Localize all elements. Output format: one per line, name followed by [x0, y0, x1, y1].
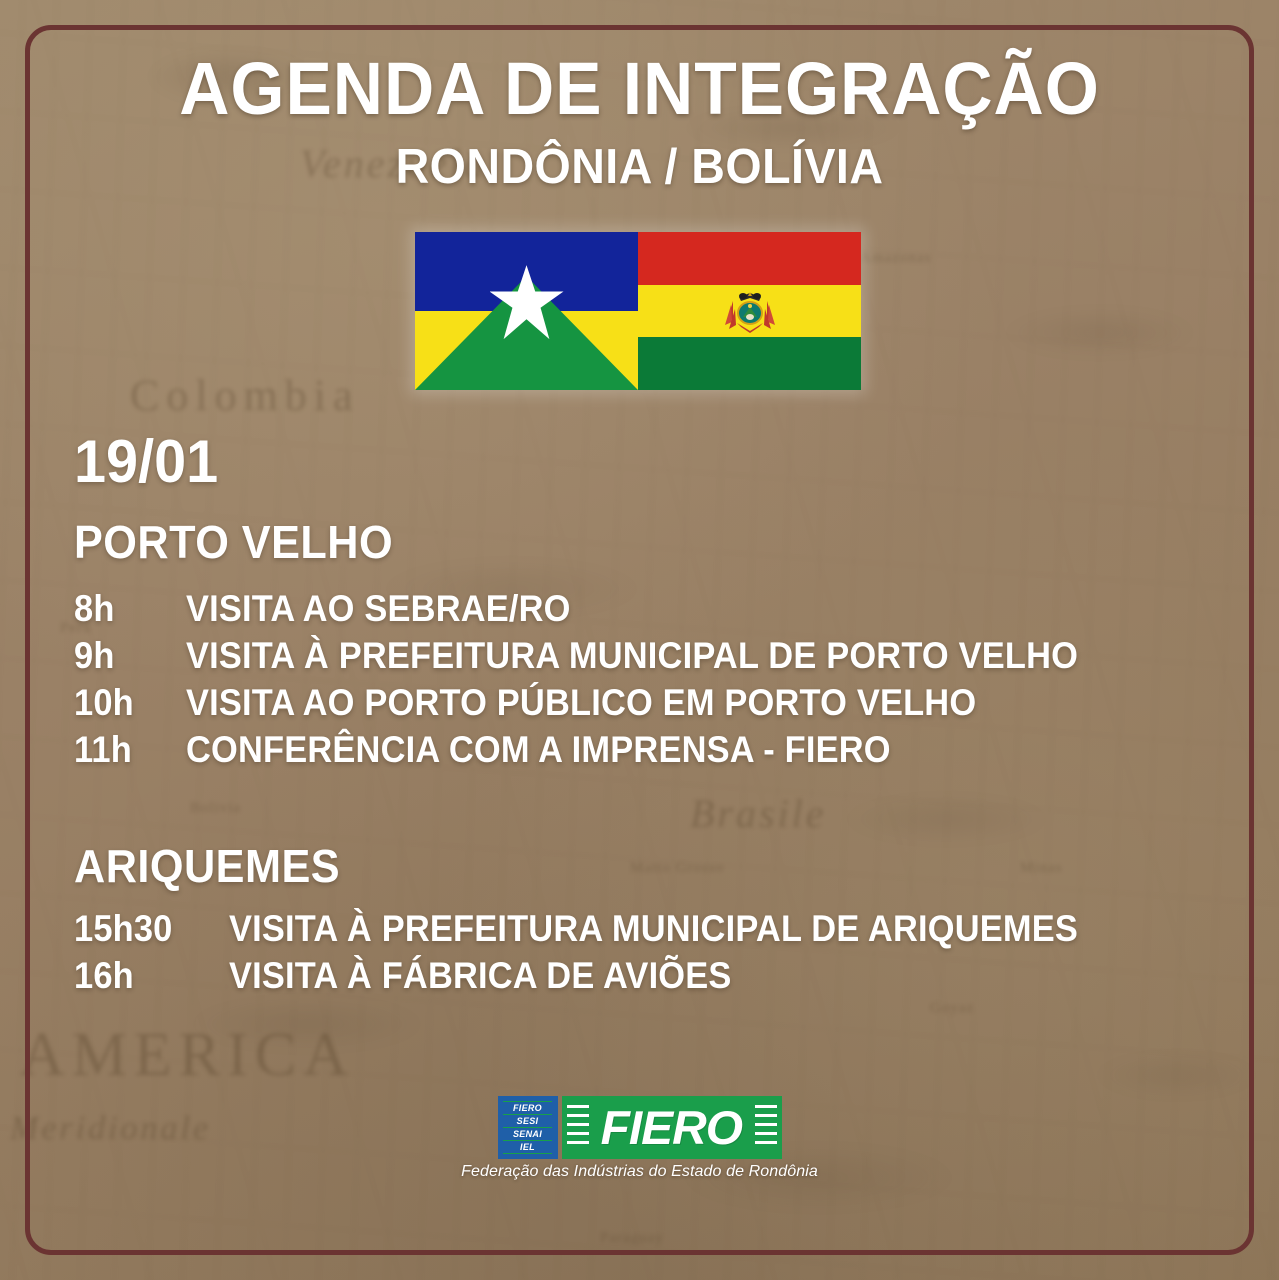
schedule-description: VISITA À FÁBRICA DE AVIÕES: [229, 957, 732, 994]
schedule-description: VISITA AO SEBRAE/RO: [186, 590, 571, 627]
rondonia-flag: [415, 232, 638, 390]
schedule-time: 10h: [74, 684, 178, 721]
fiero-logo-marks: FIERO SESI SENAI IEL FIERO: [498, 1096, 782, 1159]
schedule-row: 10h VISITA AO PORTO PÚBLICO EM PORTO VEL…: [74, 684, 1145, 731]
section-city-ariquemes: ARIQUEMES: [74, 843, 340, 889]
bolivia-flag-green-band: [638, 337, 861, 390]
schedule-description: VISITA AO PORTO PÚBLICO EM PORTO VELHO: [186, 684, 976, 721]
schedule-time: 16h: [74, 957, 218, 994]
schedule-time: 8h: [74, 590, 178, 627]
fiero-block-line: FIERO: [503, 1101, 552, 1115]
fiero-block-line: SESI: [503, 1115, 552, 1128]
schedule-row: 15h30 VISITA À PREFEITURA MUNICIPAL DE A…: [74, 910, 1142, 957]
schedule-time: 11h: [74, 731, 178, 768]
schedule-list-porto-velho: 8h VISITA AO SEBRAE/RO 9h VISITA À PREFE…: [74, 590, 1145, 778]
fiero-wordmark: FIERO: [601, 1104, 742, 1151]
schedule-row: 11h CONFERÊNCIA COM A IMPRENSA - FIERO: [74, 731, 1145, 778]
poster-content: AGENDA DE INTEGRAÇÃO RONDÔNIA / BOLÍVIA: [0, 0, 1279, 1280]
schedule-description: CONFERÊNCIA COM A IMPRENSA - FIERO: [186, 731, 891, 768]
fiero-block-line: IEL: [503, 1141, 552, 1154]
schedule-time: 9h: [74, 637, 178, 674]
fiero-stripes-right-icon: [755, 1105, 777, 1150]
fiero-stripes-left-icon: [567, 1105, 589, 1150]
fiero-system-block: FIERO SESI SENAI IEL: [498, 1096, 558, 1159]
schedule-row: 9h VISITA À PREFEITURA MUNICIPAL DE PORT…: [74, 637, 1145, 684]
schedule-row: 8h VISITA AO SEBRAE/RO: [74, 590, 1145, 637]
schedule-description: VISITA À PREFEITURA MUNICIPAL DE ARIQUEM…: [229, 910, 1078, 947]
schedule-time: 15h30: [74, 910, 218, 947]
section-city-porto-velho: PORTO VELHO: [74, 519, 393, 565]
page-title: AGENDA DE INTEGRAÇÃO: [38, 52, 1240, 126]
fiero-wordmark-block: FIERO: [562, 1096, 782, 1159]
flags-group: [415, 232, 861, 390]
fiero-block-line: SENAI: [503, 1128, 552, 1141]
schedule-list-ariquemes: 15h30 VISITA À PREFEITURA MUNICIPAL DE A…: [74, 910, 1142, 1004]
bolivia-coat-of-arms-icon: [723, 287, 777, 335]
bolivia-flag-red-band: [638, 232, 861, 285]
page-subtitle: RONDÔNIA / BOLÍVIA: [32, 143, 1247, 192]
schedule-row: 16h VISITA À FÁBRICA DE AVIÕES: [74, 957, 1142, 1004]
schedule-date: 19/01: [74, 432, 218, 492]
fiero-logo: FIERO SESI SENAI IEL FIERO Federação das…: [0, 1096, 1279, 1181]
fiero-tagline: Federação das Indústrias do Estado de Ro…: [461, 1163, 818, 1181]
bolivia-flag: [638, 232, 861, 390]
schedule-description: VISITA À PREFEITURA MUNICIPAL DE PORTO V…: [186, 637, 1078, 674]
